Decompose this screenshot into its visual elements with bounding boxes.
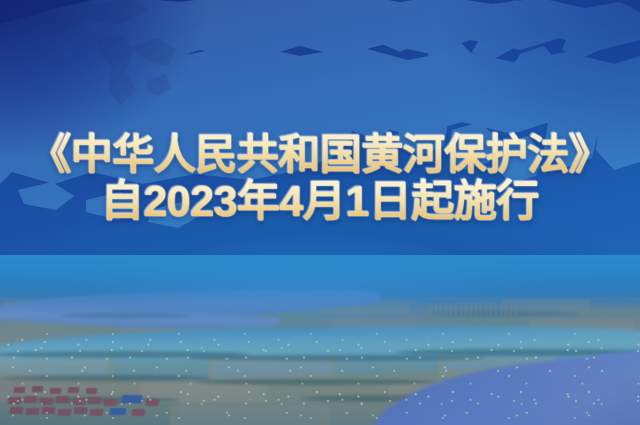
title-line-effective-date: 自2023年4月1日起施行 — [0, 176, 640, 224]
poster-image: 《中华人民共和国黄河保护法》 自2023年4月1日起施行 — [0, 0, 640, 425]
poster-title: 《中华人民共和国黄河保护法》 自2023年4月1日起施行 — [0, 126, 640, 224]
yellow-river-aerial-photo — [0, 255, 640, 425]
photo-top-fade — [0, 255, 640, 307]
title-line-law-name: 《中华人民共和国黄河保护法》 — [0, 126, 640, 176]
